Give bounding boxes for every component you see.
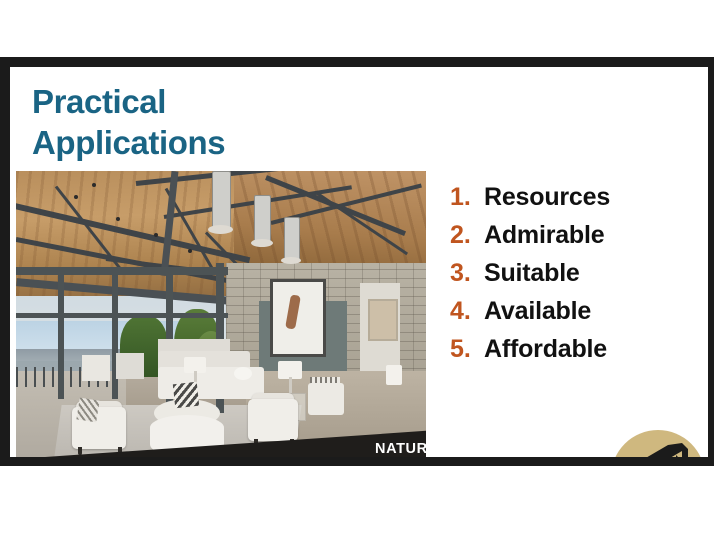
photo-ceiling-light bbox=[74, 195, 78, 199]
photo-table-lamp bbox=[386, 365, 402, 385]
list-item[interactable]: 2. Admirable bbox=[450, 221, 700, 259]
list-item-number: 2. bbox=[450, 221, 484, 250]
photo-furniture-leg bbox=[254, 439, 258, 447]
list-item-label: Suitable bbox=[484, 259, 580, 288]
list-item[interactable]: 1. Resources bbox=[450, 183, 700, 221]
photo-alcove-artwork bbox=[368, 299, 398, 341]
photo-artwork bbox=[270, 279, 326, 357]
photo-ceiling-light bbox=[92, 183, 96, 187]
page-title-line-2: Applications bbox=[32, 122, 452, 163]
interior-photo bbox=[16, 171, 426, 457]
photo-pendant-diffuser bbox=[208, 225, 233, 234]
photo-ceiling-light bbox=[116, 217, 120, 221]
page-title: Practical Applications bbox=[32, 81, 452, 163]
photo-armchair bbox=[248, 399, 298, 441]
photo-flower-arrangement bbox=[234, 367, 252, 380]
photo-mullion bbox=[112, 267, 118, 399]
slide-canvas: Practical Applications bbox=[10, 67, 708, 457]
photo-chevron-pillow bbox=[173, 382, 199, 408]
list-item-label: Admirable bbox=[484, 221, 604, 250]
logo-icon bbox=[610, 429, 706, 457]
photo-mullion bbox=[58, 267, 64, 399]
list-item-label: Resources bbox=[484, 183, 610, 212]
list-item-number: 4. bbox=[450, 297, 484, 326]
slide-frame: Practical Applications bbox=[0, 57, 714, 466]
photo-outdoor-chair bbox=[82, 355, 110, 381]
photo-accent-chair bbox=[308, 383, 344, 415]
photo-round-ottoman bbox=[150, 415, 224, 457]
list-item-label: Affordable bbox=[484, 335, 607, 364]
page-title-line-1: Practical bbox=[32, 81, 452, 122]
photo-furniture-leg bbox=[118, 447, 122, 455]
list-item[interactable]: 5. Affordable bbox=[450, 335, 700, 373]
list-item-number: 3. bbox=[450, 259, 484, 288]
photo-furniture-leg bbox=[290, 439, 294, 447]
photo-ceiling-light bbox=[154, 233, 158, 237]
photo-mullion bbox=[16, 313, 228, 318]
photo-furniture-leg bbox=[78, 447, 82, 455]
list-item[interactable]: 3. Suitable bbox=[450, 259, 700, 297]
photo-outdoor-chair bbox=[116, 353, 144, 379]
photo-pendant-light bbox=[254, 195, 271, 245]
photo-pendant-diffuser bbox=[251, 239, 273, 247]
photo-mullion bbox=[16, 267, 228, 275]
list-item-number: 5. bbox=[450, 335, 484, 364]
photo-pendant-diffuser bbox=[281, 257, 301, 264]
list-item[interactable]: 4. Available bbox=[450, 297, 700, 335]
photo-ceiling-light bbox=[188, 249, 192, 253]
photo-pendant-light bbox=[212, 171, 231, 231]
numbered-list: 1. Resources 2. Admirable 3. Suitable 4.… bbox=[450, 183, 700, 373]
list-item-label: Available bbox=[484, 297, 591, 326]
natural-stone-institute-logo bbox=[610, 429, 706, 457]
list-item-number: 1. bbox=[450, 183, 484, 212]
footer-wordmark: NATURAL STONE INSTITUTE bbox=[375, 441, 590, 457]
photo-throw-pillow bbox=[76, 398, 99, 423]
